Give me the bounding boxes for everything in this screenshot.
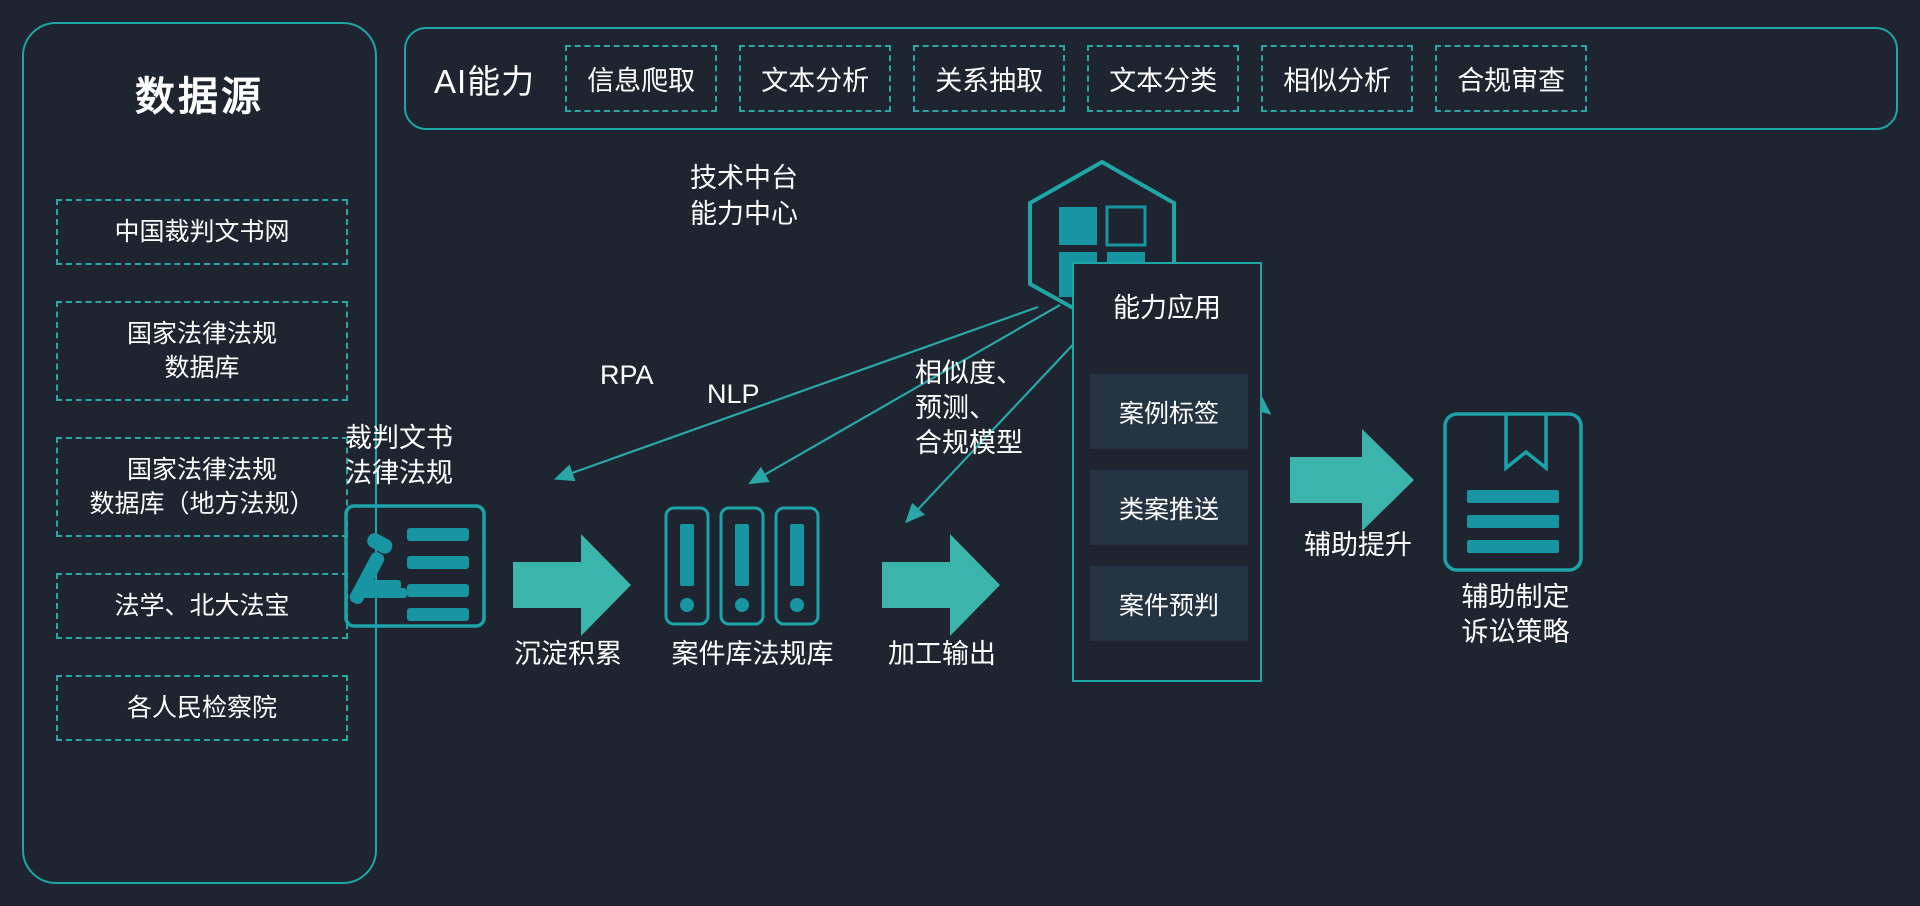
data-source-item-label: 法学、北大法宝 [114,589,289,623]
documents-label: 裁判文书 法律法规 [345,421,495,491]
case-db-label: 案件库法规库 [655,637,850,672]
ai-chip-4[interactable]: 相似分析 [1261,45,1413,112]
diagram-canvas: 数据源 中国裁判文书网 国家法律法规 数据库 国家法律法规 数据库（地方法规） … [0,0,1920,906]
data-source-item-label: 国家法律法规 数据库 [127,317,277,385]
data-source-item-2[interactable]: 国家法律法规 数据库（地方法规） [56,437,348,537]
tech-hub-label: 技术中台 能力中心 [690,160,798,232]
data-source-item-label: 各人民检察院 [127,691,277,725]
edge-label-nlp: NLP [707,377,760,412]
process-output-label: 加工输出 [862,637,1022,672]
ai-chip-1[interactable]: 文本分析 [739,45,891,112]
gavel-document-icon [344,504,486,633]
data-source-item-3[interactable]: 法学、北大法宝 [56,573,348,639]
ai-chip-0[interactable]: 信息爬取 [565,45,717,112]
final-strategy-label: 辅助制定 诉讼策略 [1428,580,1603,650]
ability-application-list: 案例标签 类案推送 案件预判 [1090,374,1248,641]
ai-chip-5[interactable]: 合规审查 [1435,45,1587,112]
data-source-panel: 数据源 中国裁判文书网 国家法律法规 数据库 国家法律法规 数据库（地方法规） … [22,22,377,884]
data-source-item-1[interactable]: 国家法律法规 数据库 [56,301,348,401]
right-arrow-icon-3 [1290,425,1416,540]
ai-chip-2[interactable]: 关系抽取 [913,45,1065,112]
ai-capability-title: AI能力 [434,55,535,103]
ai-capability-bar: AI能力 信息爬取 文本分析 关系抽取 文本分类 相似分析 合规审查 [404,27,1898,130]
ability-item-2[interactable]: 案件预判 [1090,566,1248,641]
data-source-item-label: 国家法律法规 数据库（地方法规） [89,453,314,521]
ability-item-0[interactable]: 案例标签 [1090,374,1248,449]
accumulate-label: 沉淀积累 [488,637,648,672]
ability-application-title: 能力应用 [1074,286,1260,325]
ability-item-1[interactable]: 类案推送 [1090,470,1248,545]
edge-label-similarity: 相似度、 预测、 合规模型 [915,356,1023,461]
right-arrow-icon-1 [513,530,633,645]
right-arrow-icon-2 [882,530,1002,645]
ability-application-panel: 能力应用 案例标签 类案推送 案件预判 [1072,262,1262,682]
bookmark-document-icon [1443,412,1583,577]
ai-chip-3[interactable]: 文本分类 [1087,45,1239,112]
edge-label-rpa: RPA [600,358,654,393]
data-source-item-0[interactable]: 中国裁判文书网 [56,199,348,265]
data-source-item-4[interactable]: 各人民检察院 [56,675,348,741]
data-source-list: 中国裁判文书网 国家法律法规 数据库 国家法律法规 数据库（地方法规） 法学、北… [56,199,348,741]
server-stack-icon [664,506,820,631]
data-source-item-label: 中国裁判文书网 [114,215,289,249]
assist-improve-label: 辅助提升 [1278,528,1438,563]
data-source-title: 数据源 [24,64,375,122]
